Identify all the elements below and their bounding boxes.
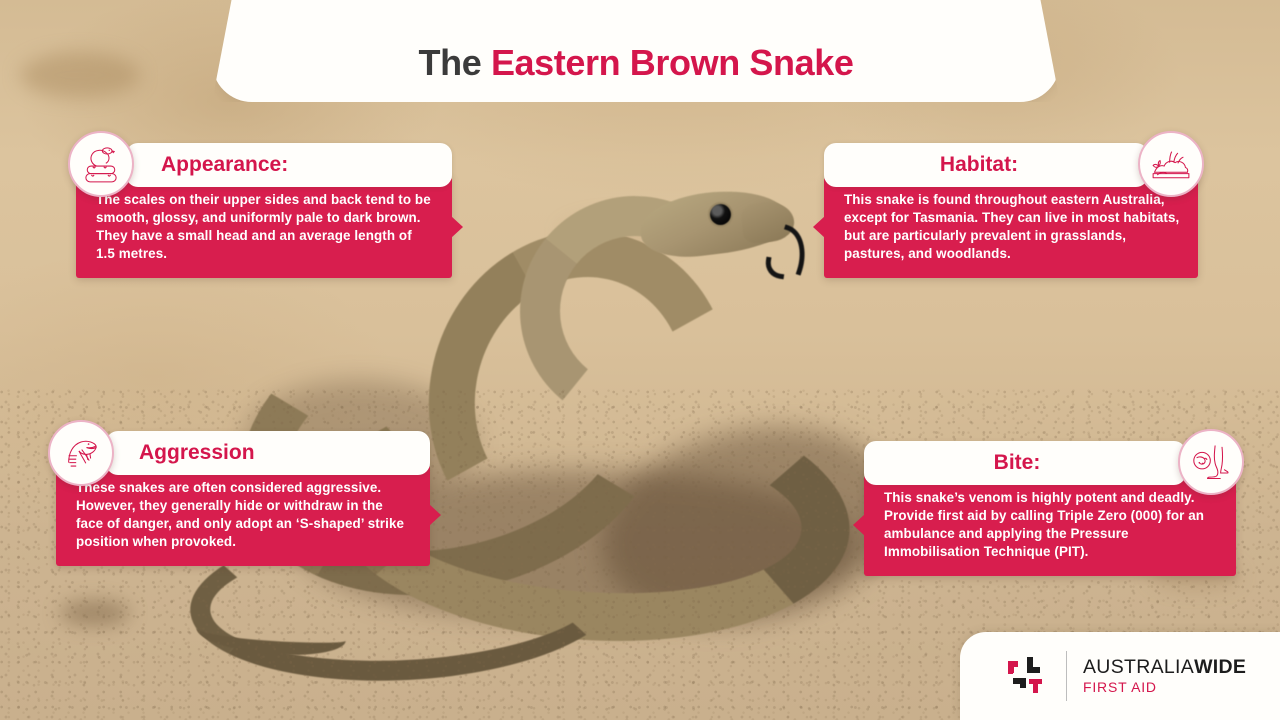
coiled-snake-icon <box>79 142 123 186</box>
card-body-bite: This snake’s venom is highly potent and … <box>864 475 1236 576</box>
card-text-bite: This snake’s venom is highly potent and … <box>884 489 1218 561</box>
card-text-habitat: This snake is found throughout eastern A… <box>844 191 1180 263</box>
card-title-bite: Bite: <box>864 451 1186 475</box>
page-title: The Eastern Brown Snake <box>419 42 854 102</box>
brand-logo-panel: AUSTRALIAWIDE FIRST AID <box>960 632 1280 720</box>
card-pointer-left <box>813 216 825 238</box>
logo-wide: WIDE <box>1194 656 1246 678</box>
header-banner: The Eastern Brown Snake <box>212 0 1060 102</box>
australia-wide-cross-logo <box>1004 653 1050 699</box>
card-header-habitat: Habitat: <box>824 143 1148 187</box>
card-pointer-right <box>451 216 463 238</box>
page-title-prefix: The <box>419 42 491 83</box>
card-title-aggression: Aggression <box>106 441 430 465</box>
card-text-aggression: These snakes are often considered aggres… <box>76 479 412 551</box>
icon-badge-habitat <box>1138 131 1204 197</box>
snake-bite-leg-icon <box>1189 440 1233 484</box>
striking-snake-head-icon <box>59 431 103 475</box>
card-header-bite: Bite: <box>864 441 1186 485</box>
logo-line-2: FIRST AID <box>1083 680 1246 695</box>
card-body-habitat: This snake is found throughout eastern A… <box>824 177 1198 278</box>
logo-wordmark: AUSTRALIAWIDE FIRST AID <box>1083 657 1246 695</box>
snake-tail-tip <box>195 610 347 658</box>
snake-eye <box>710 204 731 225</box>
card-title-appearance: Appearance: <box>126 153 452 177</box>
icon-badge-aggression <box>48 420 114 486</box>
card-header-aggression: Aggression <box>106 431 430 475</box>
logo-divider <box>1066 651 1067 701</box>
icon-badge-appearance <box>68 131 134 197</box>
sand-blotch <box>60 600 130 626</box>
card-title-habitat: Habitat: <box>824 153 1148 177</box>
snake-tongue-fork <box>764 257 787 280</box>
card-body-aggression: These snakes are often considered aggres… <box>56 465 430 566</box>
cross-logo-icon <box>1004 653 1050 699</box>
icon-badge-bite <box>1178 429 1244 495</box>
logo-line-1: AUSTRALIAWIDE <box>1083 657 1246 678</box>
card-pointer-left <box>853 514 865 536</box>
snake-illustration <box>0 0 1280 720</box>
background-photo <box>0 0 1280 720</box>
logo-australia: AUSTRALIA <box>1083 656 1194 678</box>
page-title-main: Eastern Brown Snake <box>491 42 854 83</box>
card-text-appearance: The scales on their upper sides and back… <box>96 191 434 263</box>
card-pointer-right <box>429 504 441 526</box>
habitat-landscape-icon <box>1149 142 1193 186</box>
card-body-appearance: The scales on their upper sides and back… <box>76 177 452 278</box>
card-header-appearance: Appearance: <box>126 143 452 187</box>
